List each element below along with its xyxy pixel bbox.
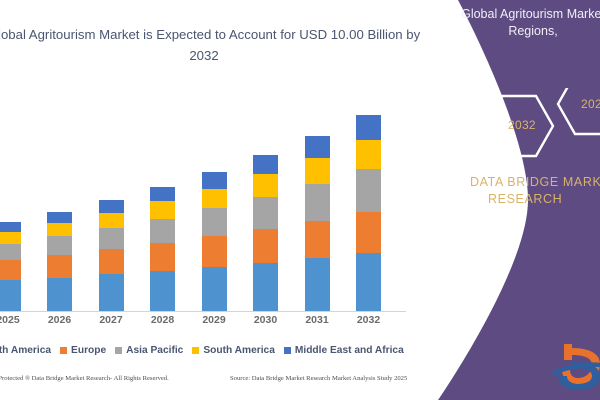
bar-segment bbox=[99, 274, 124, 311]
data-bridge-b-logo-icon bbox=[550, 338, 600, 394]
hex-label-2025: 2025 bbox=[581, 97, 600, 111]
bar-2031 bbox=[305, 136, 330, 311]
legend-item-middle-east-and-africa[interactable]: Middle East and Africa bbox=[284, 345, 404, 356]
legend-swatch-icon bbox=[115, 347, 122, 354]
bar-segment bbox=[47, 212, 72, 223]
panel-heading-line-2: Regions, bbox=[438, 23, 600, 40]
bar-2029 bbox=[202, 172, 227, 311]
bar-segment bbox=[305, 221, 330, 258]
bar-segment bbox=[150, 187, 175, 201]
legend-item-south-america[interactable]: South America bbox=[192, 345, 275, 356]
x-axis-label-2025: 2025 bbox=[0, 314, 34, 326]
bar-segment bbox=[356, 253, 381, 311]
x-axis-label-2029: 2029 bbox=[188, 314, 240, 326]
panel-heading-line-1: Global Agritourism Market bbox=[461, 7, 600, 21]
bar-segment bbox=[356, 212, 381, 253]
legend-swatch-icon bbox=[284, 347, 291, 354]
bar-segment bbox=[202, 172, 227, 189]
source-text: Source: Data Bridge Market Research Mark… bbox=[230, 375, 407, 382]
bar-2028 bbox=[150, 187, 175, 311]
bar-2030 bbox=[253, 155, 278, 311]
bar-segment bbox=[0, 280, 21, 311]
bar-segment bbox=[202, 267, 227, 311]
legend-label: North America bbox=[0, 345, 51, 356]
bar-segment bbox=[305, 136, 330, 158]
bar-segment bbox=[253, 229, 278, 263]
bar-segment bbox=[0, 244, 21, 260]
bar-segment bbox=[253, 174, 278, 196]
brand-name: DATA BRIDGE MARKET RESEARCH bbox=[470, 174, 600, 208]
bar-2025 bbox=[0, 222, 21, 311]
bar-2027 bbox=[99, 200, 124, 311]
x-axis-label-2032: 2032 bbox=[343, 314, 395, 326]
bar-segment bbox=[47, 236, 72, 255]
bar-segment bbox=[99, 228, 124, 249]
bar-segment bbox=[305, 258, 330, 311]
bar-segment bbox=[202, 236, 227, 267]
bar-segment bbox=[99, 213, 124, 228]
footer: Copyright Protected ® Data Bridge Market… bbox=[0, 375, 420, 389]
bar-segment bbox=[150, 243, 175, 271]
bar-segment bbox=[202, 208, 227, 236]
bar-segment bbox=[150, 201, 175, 218]
bar-segment bbox=[356, 140, 381, 169]
bar-segment bbox=[150, 219, 175, 243]
x-axis-line bbox=[0, 311, 406, 312]
legend-item-asia-pacific[interactable]: Asia Pacific bbox=[115, 345, 183, 356]
bar-segment bbox=[0, 232, 21, 244]
legend-item-europe[interactable]: Europe bbox=[60, 345, 106, 356]
brand-line-2: RESEARCH bbox=[470, 191, 600, 208]
bar-segment bbox=[253, 263, 278, 311]
bar-segment bbox=[202, 189, 227, 209]
title-line-1: Global Agritourism Market is Expected to… bbox=[0, 27, 327, 42]
right-purple-panel: Global Agritourism Market Regions, 2032 … bbox=[420, 0, 600, 400]
bar-segment bbox=[253, 155, 278, 174]
x-axis-label-2026: 2026 bbox=[34, 314, 86, 326]
legend-label: Asia Pacific bbox=[126, 345, 183, 356]
x-axis-label-2027: 2027 bbox=[85, 314, 137, 326]
hexagon-badges: 2032 2025 bbox=[480, 88, 600, 164]
bar-segment bbox=[47, 255, 72, 278]
chart-legend: North AmericaEuropeAsia PacificSouth Ame… bbox=[0, 345, 410, 356]
panel-heading: Global Agritourism Market Regions, bbox=[438, 6, 600, 40]
bar-segment bbox=[356, 169, 381, 212]
bar-2032 bbox=[356, 115, 381, 311]
bar-segment bbox=[99, 249, 124, 274]
brand-line-1: DATA BRIDGE MARKET bbox=[470, 175, 600, 189]
x-axis-label-2031: 2031 bbox=[291, 314, 343, 326]
bar-segment bbox=[150, 271, 175, 311]
bar-segment bbox=[99, 200, 124, 212]
page-title: Global Agritourism Market is Expected to… bbox=[0, 24, 424, 66]
legend-label: Middle East and Africa bbox=[295, 345, 404, 356]
bar-segment bbox=[0, 260, 21, 281]
bar-segment bbox=[47, 223, 72, 236]
bar-segment bbox=[305, 184, 330, 221]
bar-segment bbox=[253, 197, 278, 229]
legend-label: South America bbox=[203, 345, 275, 356]
x-axis-label-2028: 2028 bbox=[137, 314, 189, 326]
bar-segment bbox=[305, 158, 330, 184]
legend-label: Europe bbox=[71, 345, 106, 356]
infographic-canvas: Global Agritourism Market is Expected to… bbox=[0, 0, 600, 400]
bar-segment bbox=[47, 278, 72, 311]
bar-segment bbox=[0, 222, 21, 231]
legend-item-north-america[interactable]: North America bbox=[0, 345, 51, 356]
legend-swatch-icon bbox=[60, 347, 67, 354]
bar-segment bbox=[356, 115, 381, 140]
stacked-bar-chart bbox=[0, 96, 410, 312]
x-axis-labels: 20252026202720282029203020312032 bbox=[0, 314, 410, 332]
x-axis-label-2030: 2030 bbox=[240, 314, 292, 326]
legend-swatch-icon bbox=[192, 347, 199, 354]
copyright-text: Copyright Protected ® Data Bridge Market… bbox=[0, 375, 169, 382]
hex-label-2032: 2032 bbox=[508, 118, 536, 132]
bar-2026 bbox=[47, 212, 72, 311]
